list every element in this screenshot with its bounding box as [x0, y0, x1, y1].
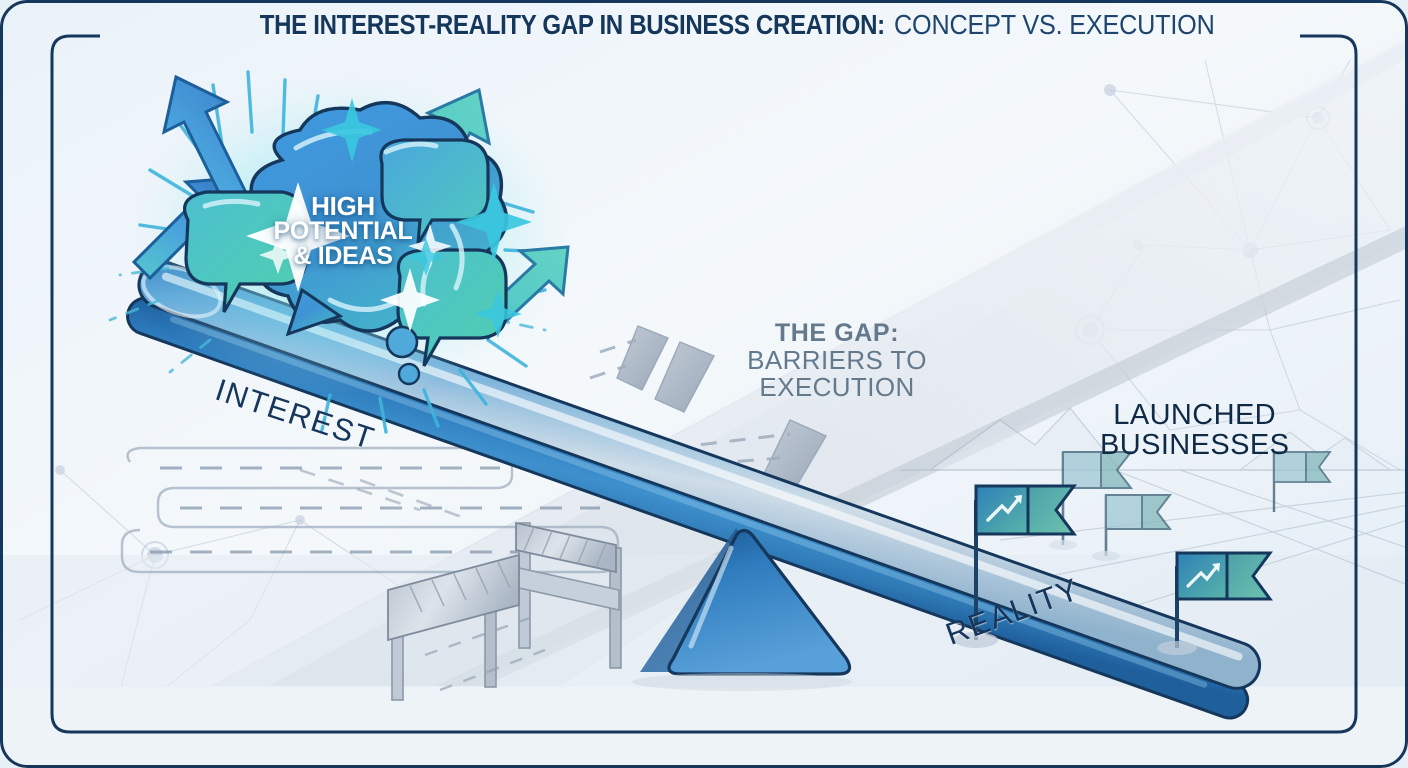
bubble-dot-large — [387, 327, 417, 357]
infographic-canvas: THE INTEREST-REALITY GAP IN BUSINESS CRE… — [0, 0, 1408, 768]
illustration-layer — [0, 0, 1408, 768]
bubble-dot-small — [399, 364, 419, 384]
